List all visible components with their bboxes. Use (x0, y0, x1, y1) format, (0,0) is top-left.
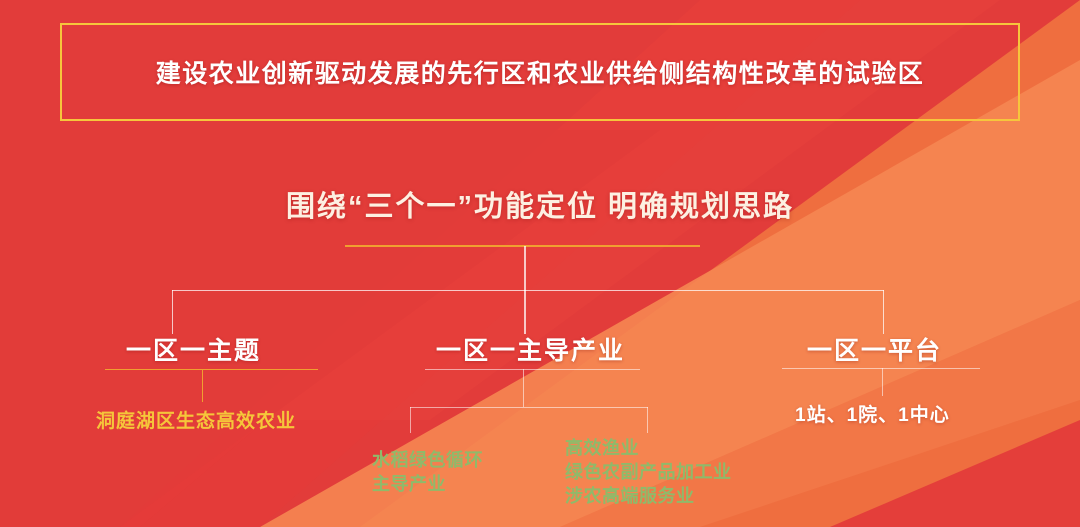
leaf-branch-3-group-1-line-1: 1站、1院、1中心 (795, 403, 950, 428)
connector-branch-2-stem (523, 369, 524, 407)
connector-branch-2-split-right (647, 407, 648, 433)
leaf-branch-2-group-2-line-3: 涉农高端服务业 (565, 485, 695, 509)
connector-drop-branch-3 (883, 290, 884, 334)
connector-drop-branch-1 (172, 290, 173, 334)
underline-branch-1 (105, 369, 318, 370)
leaf-branch-1-group-1-line-1: 洞庭湖区生态高效农业 (96, 409, 296, 434)
connector-branch-2-split-left (410, 407, 411, 433)
branch-heading-2: 一区一主导产业 (436, 331, 625, 367)
connector-main-bus (172, 290, 884, 291)
connector-branch-1-leaf-stem (202, 369, 203, 402)
branch-heading-3: 一区一平台 (807, 331, 942, 367)
banner-title: 建设农业创新驱动发展的先行区和农业供给侧结构性改革的试验区 (156, 54, 925, 90)
connector-root-stem (524, 246, 526, 291)
leaf-branch-2-group-1-line-1: 水稻绿色循环 (372, 449, 483, 473)
leaf-branch-2-group-1-line-2: 主导产业 (372, 473, 446, 497)
banner-frame: 建设农业创新驱动发展的先行区和农业供给侧结构性改革的试验区 (60, 23, 1020, 121)
slide-canvas: 建设农业创新驱动发展的先行区和农业供给侧结构性改革的试验区 围绕“三个一”功能定… (0, 0, 1080, 527)
band-red-corner (830, 420, 1080, 527)
connector-subtitle-rule (345, 245, 700, 247)
leaf-branch-2-group-2-line-2: 绿色农副产品加工业 (565, 461, 732, 485)
connector-branch-2-split-bus (410, 407, 648, 408)
branch-heading-1: 一区一主题 (126, 331, 261, 367)
slide-subtitle: 围绕“三个一”功能定位 明确规划思路 (0, 183, 1080, 225)
connector-drop-branch-2 (524, 290, 526, 334)
underline-branch-2 (425, 369, 640, 370)
leaf-branch-2-group-2-line-1: 高效渔业 (565, 437, 639, 461)
underline-branch-3 (782, 368, 980, 369)
connector-branch-3-stem (882, 368, 883, 396)
